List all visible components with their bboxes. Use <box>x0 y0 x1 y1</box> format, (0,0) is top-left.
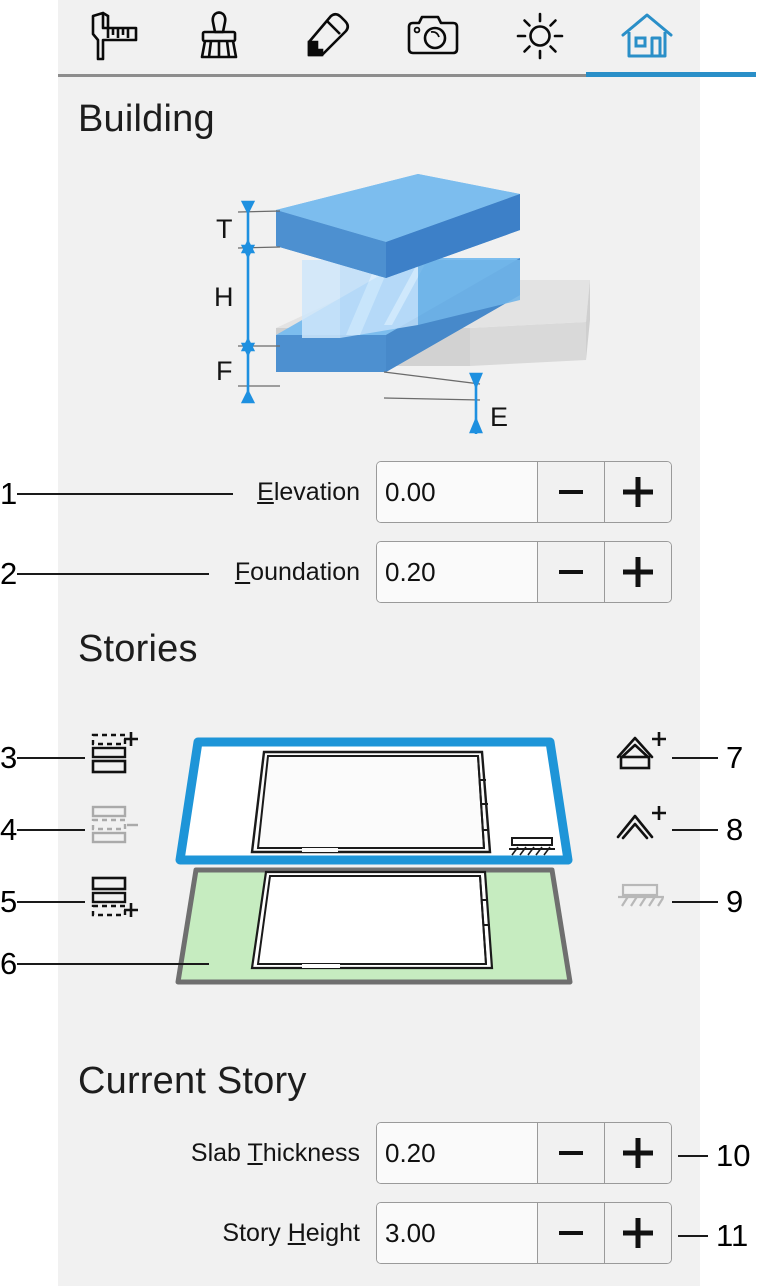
story-height-label: Story Height <box>178 1219 376 1248</box>
elevation-label-rest: levation <box>274 478 360 506</box>
foundation-increment-button[interactable] <box>604 542 671 602</box>
slab-thickness-label-accel: T <box>247 1139 262 1167</box>
stories-diagram <box>160 720 600 1020</box>
elevation-input[interactable]: 0.00 <box>377 462 537 522</box>
slab-thickness-label-pre: Slab <box>191 1139 248 1167</box>
elevation-spinner[interactable]: 0.00 <box>376 461 672 523</box>
sun-icon <box>514 10 566 67</box>
callout-number: 3 <box>0 742 17 773</box>
caliper-icon <box>84 10 140 67</box>
dimension-label-T: T <box>216 214 233 245</box>
story-height-label-accel: H <box>288 1219 306 1247</box>
add-roof-icon <box>613 801 669 856</box>
foundation-input[interactable]: 0.20 <box>377 542 537 602</box>
slab-thickness-increment-button[interactable] <box>604 1123 671 1183</box>
active-tab-indicator <box>586 72 756 77</box>
callout-number: 4 <box>0 814 17 845</box>
slab-thickness-label-rest: hickness <box>263 1139 360 1167</box>
slab-thickness-input[interactable]: 0.20 <box>377 1123 537 1183</box>
dimension-label-H: H <box>214 282 234 313</box>
story-height-spinner[interactable]: 3.00 <box>376 1202 672 1264</box>
insert-story-below-button[interactable] <box>88 874 146 926</box>
building-heading: Building <box>78 98 215 141</box>
brush-icon <box>193 10 245 67</box>
callout-number: 2 <box>0 558 17 589</box>
story-height-decrement-button[interactable] <box>537 1203 604 1263</box>
tab-building[interactable] <box>597 0 697 76</box>
foundation-label: Foundation <box>216 558 376 587</box>
story-plan-upper <box>180 742 568 860</box>
foundation-spinner[interactable]: 0.20 <box>376 541 672 603</box>
story-height-field-row: Story Height 3.00 <box>178 1202 672 1264</box>
tab-measure[interactable] <box>62 0 162 76</box>
current-story-heading: Current Story <box>78 1060 307 1103</box>
remove-story-button <box>88 802 146 854</box>
building-diagram: T H F E <box>180 160 610 450</box>
callout-number: 8 <box>718 814 743 845</box>
tab-draw[interactable] <box>276 0 376 76</box>
elevation-label: Elevation <box>216 478 376 507</box>
pencil-icon <box>300 10 352 67</box>
story-height-label-pre: Story <box>222 1219 287 1247</box>
callout-number: 7 <box>718 742 743 773</box>
foundation-field-row: Foundation 0.20 <box>216 541 672 603</box>
elevation-field-row: Elevation 0.00 <box>216 461 672 523</box>
dimension-label-E: E <box>490 402 508 433</box>
elevation-increment-button[interactable] <box>604 462 671 522</box>
add-attic-icon <box>613 729 669 784</box>
tab-paint[interactable] <box>169 0 269 76</box>
slab-thickness-field-row: Slab Thickness 0.20 <box>178 1122 672 1184</box>
tab-sun[interactable] <box>490 0 590 76</box>
foundation-label-rest: oundation <box>250 558 360 586</box>
tab-camera[interactable] <box>383 0 483 76</box>
house-icon <box>619 11 675 66</box>
callout-number: 5 <box>0 886 17 917</box>
story-plan-lower <box>178 870 570 982</box>
callout-number: 6 <box>0 948 17 979</box>
slab-thickness-spinner[interactable]: 0.20 <box>376 1122 672 1184</box>
add-foundation-button <box>612 874 670 926</box>
foundation-label-accel: F <box>235 558 250 586</box>
insert-story-below-icon <box>89 873 145 928</box>
story-height-input[interactable]: 3.00 <box>377 1203 537 1263</box>
slab-thickness-decrement-button[interactable] <box>537 1123 604 1183</box>
add-foundation-icon <box>613 877 669 924</box>
elevation-label-accel: E <box>257 478 274 506</box>
add-roof-button[interactable] <box>612 802 670 854</box>
camera-icon <box>406 13 460 64</box>
insert-story-above-button[interactable] <box>88 730 146 782</box>
story-height-label-rest: eight <box>306 1219 360 1247</box>
story-height-increment-button[interactable] <box>604 1203 671 1263</box>
slab-thickness-label: Slab Thickness <box>178 1139 376 1168</box>
insert-story-above-icon <box>89 729 145 784</box>
dimension-label-F: F <box>216 356 233 387</box>
elevation-decrement-button[interactable] <box>537 462 604 522</box>
stories-heading: Stories <box>78 628 198 671</box>
callout-number: 1 <box>0 478 17 509</box>
main-toolbar <box>58 0 700 80</box>
foundation-decrement-button[interactable] <box>537 542 604 602</box>
remove-story-icon <box>89 801 145 856</box>
callout-number: 10 <box>708 1140 750 1171</box>
add-attic-button[interactable] <box>612 730 670 782</box>
callout-number: 11 <box>708 1220 748 1251</box>
callout-number: 9 <box>718 886 743 917</box>
